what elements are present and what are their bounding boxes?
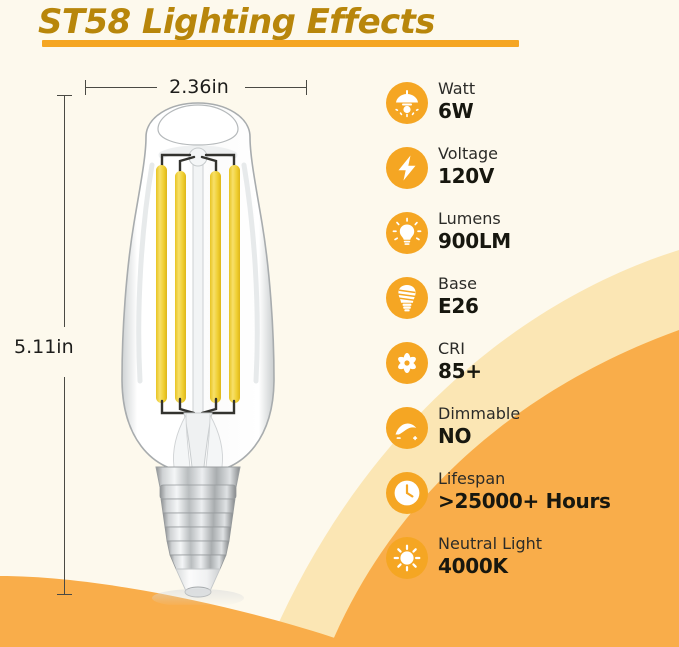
spec-value: 85+ <box>438 359 482 384</box>
bulb-stem <box>193 157 203 419</box>
spec-text-dimmable: Dimmable NO <box>438 403 520 449</box>
infographic-page: ST58 Lighting Effects 2.36in 5.11in <box>0 0 679 647</box>
bulb-svg <box>78 95 318 605</box>
bulb-neck <box>156 467 240 487</box>
dimension-bar-bottom <box>64 377 65 595</box>
sun-icon <box>386 537 428 579</box>
spec-label: Lumens <box>438 208 511 229</box>
cfl-spiral-icon-svg <box>386 277 428 319</box>
spec-row-dimmable: Dimmable NO <box>386 405 676 470</box>
spec-row-cri: CRI 85+ <box>386 340 676 405</box>
spec-label: Watt <box>438 78 475 99</box>
dimmer-knob-icon-svg <box>386 407 428 449</box>
clock-icon-svg <box>386 472 428 514</box>
spec-row-neutral-light: Neutral Light 4000K <box>386 535 676 600</box>
spec-value: 6W <box>438 99 475 124</box>
bulb-surface-reflection <box>152 589 244 605</box>
spec-value: E26 <box>438 294 479 319</box>
spec-row-voltage: Voltage 120V <box>386 145 676 210</box>
clock-icon <box>386 472 428 514</box>
dimension-bar-left <box>85 87 157 88</box>
spec-label: Base <box>438 273 479 294</box>
spec-label: CRI <box>438 338 482 359</box>
dimension-label-height: 5.11in <box>14 336 74 358</box>
pendant-lamp-icon-svg <box>386 82 428 124</box>
spec-text-lifespan: Lifespan >25000+ Hours <box>438 468 611 514</box>
page-title: ST58 Lighting Effects <box>38 2 518 42</box>
spec-text-base: Base E26 <box>438 273 479 319</box>
specification-list: Watt 6W Voltage 120V <box>386 80 676 600</box>
spec-label: Neutral Light <box>438 533 542 554</box>
flower-icon <box>386 342 428 384</box>
spec-text-cri: CRI 85+ <box>438 338 482 384</box>
spec-value: NO <box>438 424 520 449</box>
spec-row-lumens: Lumens 900LM <box>386 210 676 275</box>
spec-text-neutral-light: Neutral Light 4000K <box>438 533 542 579</box>
lightning-bolt-icon-svg <box>386 147 428 189</box>
spec-label: Voltage <box>438 143 498 164</box>
dimension-cap-bottom <box>57 594 72 595</box>
cfl-spiral-icon <box>386 277 428 319</box>
dimension-bar-top <box>64 95 65 327</box>
title-block: ST58 Lighting Effects <box>38 2 518 42</box>
spec-row-lifespan: Lifespan >25000+ Hours <box>386 470 676 535</box>
spec-text-voltage: Voltage 120V <box>438 143 498 189</box>
spec-label: Dimmable <box>438 403 520 424</box>
spec-text-watt: Watt 6W <box>438 78 475 124</box>
spec-label: Lifespan <box>438 468 611 489</box>
title-underline <box>42 40 519 47</box>
spec-value: 120V <box>438 164 498 189</box>
spec-row-watt: Watt 6W <box>386 80 676 145</box>
lightning-bolt-icon <box>386 147 428 189</box>
sun-icon-svg <box>386 537 428 579</box>
st58-led-filament-bulb-icon <box>78 95 318 605</box>
spec-text-lumens: Lumens 900LM <box>438 208 511 254</box>
spec-value: 900LM <box>438 229 511 254</box>
flower-icon-svg <box>386 342 428 384</box>
dimension-bar-right <box>245 87 307 88</box>
light-bulb-icon-svg <box>386 212 428 254</box>
e26-screw-base <box>160 485 236 569</box>
pendant-lamp-icon <box>386 82 428 124</box>
dimension-cap-right <box>306 80 307 95</box>
light-bulb-icon <box>386 212 428 254</box>
spec-value: >25000+ Hours <box>438 489 611 514</box>
spec-row-base: Base E26 <box>386 275 676 340</box>
spec-value: 4000K <box>438 554 542 579</box>
dimmer-knob-icon <box>386 407 428 449</box>
